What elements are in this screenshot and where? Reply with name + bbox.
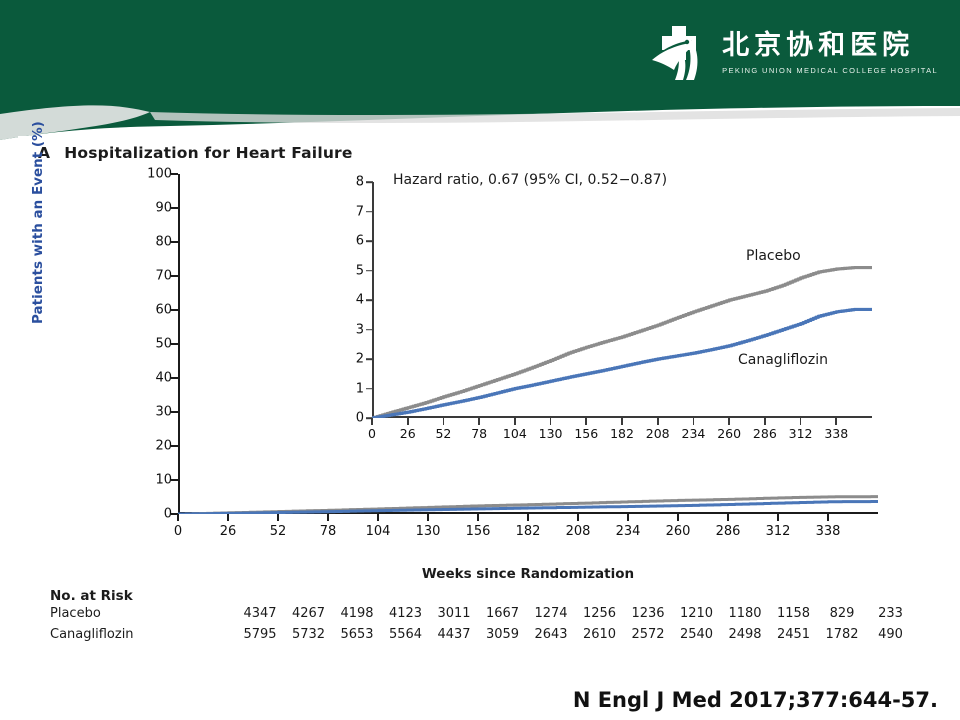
risk-table-cell: 5653 — [340, 627, 373, 642]
main-chart-xlabel: Weeks since Randomization — [178, 566, 878, 582]
risk-table-cell: 4267 — [292, 606, 325, 621]
inset-x-tickmark — [835, 418, 837, 425]
main-y-tickmark — [171, 479, 178, 481]
main-x-tick-label: 208 — [566, 524, 591, 539]
main-x-tickmark — [227, 514, 229, 521]
main-y-tickmark — [171, 207, 178, 209]
inset-x-tick-label: 104 — [503, 426, 527, 441]
risk-table-cell: 4437 — [437, 627, 470, 642]
main-y-tickmark — [171, 445, 178, 447]
inset-x-tickmark — [621, 418, 623, 425]
risk-table-cell: 5564 — [389, 627, 422, 642]
main-x-tick-label: 104 — [366, 524, 391, 539]
inset-x-tick-label: 312 — [789, 426, 813, 441]
risk-table-cell: 1274 — [534, 606, 567, 621]
main-y-tickmark — [171, 411, 178, 413]
inset-x-tick-label: 234 — [681, 426, 705, 441]
risk-table-cell: 5732 — [292, 627, 325, 642]
main-x-tickmark — [177, 514, 179, 521]
inset-y-tick-label: 0 — [346, 411, 364, 426]
inset-x-tick-label: 208 — [646, 426, 670, 441]
inset-x-tick-label: 0 — [368, 426, 376, 441]
main-x-tickmark — [477, 514, 479, 521]
main-y-tick-label: 40 — [112, 371, 172, 386]
main-x-tickmark — [377, 514, 379, 521]
risk-table-cell: 2540 — [680, 627, 713, 642]
no-at-risk-rows: Placebo434742674198412330111667127412561… — [50, 606, 910, 648]
hospital-cross-dove-logo-icon — [646, 24, 712, 82]
inset-x-tick-label: 130 — [539, 426, 563, 441]
risk-table-cell: 4347 — [243, 606, 276, 621]
figure-title-text: Hospitalization for Heart Failure — [64, 144, 352, 162]
main-y-tick-label: 90 — [112, 201, 172, 216]
risk-table-cell: 2498 — [728, 627, 761, 642]
inset-series-placebo — [372, 268, 872, 418]
inset-chart-curves — [372, 182, 874, 418]
risk-table-row: Placebo434742674198412330111667127412561… — [50, 606, 910, 627]
risk-table-cell: 1236 — [631, 606, 664, 621]
hospital-name-cn: 北京协和医院 — [722, 32, 938, 59]
inset-x-tickmark — [443, 418, 445, 425]
main-chart-ylabel: Patients with an Event (%) — [30, 121, 46, 324]
inset-y-tick-label: 8 — [346, 175, 364, 190]
inset-y-tick-label: 6 — [346, 234, 364, 249]
main-y-tick-label: 50 — [112, 337, 172, 352]
risk-table-cell: 3059 — [486, 627, 519, 642]
inset-x-tick-label: 182 — [610, 426, 634, 441]
main-y-tickmark — [171, 275, 178, 277]
risk-table-cell: 1256 — [583, 606, 616, 621]
inset-x-tickmark — [478, 418, 480, 425]
risk-table-cell: 829 — [830, 606, 855, 621]
main-y-tickmark — [171, 343, 178, 345]
risk-table-cell: 5795 — [243, 627, 276, 642]
risk-table-row: Canagliflozin579557325653556444373059264… — [50, 627, 910, 648]
main-x-tick-label: 52 — [270, 524, 287, 539]
main-y-tick-label: 80 — [112, 235, 172, 250]
main-x-tickmark — [727, 514, 729, 521]
inset-y-tick-label: 5 — [346, 263, 364, 278]
main-x-tickmark — [577, 514, 579, 521]
main-x-tickmark — [277, 514, 279, 521]
inset-series-label-placebo: Placebo — [746, 248, 801, 264]
main-y-tick-label: 60 — [112, 303, 172, 318]
risk-table-cell: 490 — [878, 627, 903, 642]
inset-series-label-canagliflozin: Canagliflozin — [738, 352, 828, 368]
main-x-tick-label: 0 — [174, 524, 182, 539]
risk-table-cell: 233 — [878, 606, 903, 621]
main-x-tick-label: 156 — [466, 524, 491, 539]
risk-table-cell: 2610 — [583, 627, 616, 642]
inset-x-tickmark — [657, 418, 659, 425]
main-y-tickmark — [171, 241, 178, 243]
main-x-tick-label: 26 — [220, 524, 237, 539]
no-at-risk-title: No. at Risk — [50, 588, 910, 604]
figure-panel: AHospitalization for Heart Failure Patie… — [18, 136, 930, 676]
risk-table-cell: 2643 — [534, 627, 567, 642]
inset-x-tick-label: 286 — [753, 426, 777, 441]
main-y-tick-label: 30 — [112, 405, 172, 420]
main-y-tickmark — [171, 173, 178, 175]
inset-x-tick-label: 338 — [824, 426, 848, 441]
inset-y-tick-label: 1 — [346, 381, 364, 396]
main-x-tickmark — [427, 514, 429, 521]
risk-table-cell: 1210 — [680, 606, 713, 621]
main-y-tick-label: 100 — [112, 167, 172, 182]
inset-x-tickmark — [407, 418, 409, 425]
inset-y-tick-label: 4 — [346, 293, 364, 308]
main-y-tick-label: 70 — [112, 269, 172, 284]
main-x-tick-label: 182 — [516, 524, 541, 539]
risk-table-cell: 3011 — [437, 606, 470, 621]
inset-y-tick-label: 3 — [346, 322, 364, 337]
main-y-tick-label: 10 — [112, 473, 172, 488]
risk-table-cell: 1782 — [825, 627, 858, 642]
risk-table-cell: 1180 — [728, 606, 761, 621]
inset-x-tick-label: 26 — [400, 426, 416, 441]
main-y-tick-label: 20 — [112, 439, 172, 454]
main-x-tick-label: 338 — [816, 524, 841, 539]
inset-x-tickmark — [550, 418, 552, 425]
main-x-tickmark — [627, 514, 629, 521]
main-x-tickmark — [777, 514, 779, 521]
main-x-tickmark — [527, 514, 529, 521]
main-x-tick-label: 286 — [716, 524, 741, 539]
main-y-tickmark — [171, 377, 178, 379]
inset-x-tick-label: 156 — [574, 426, 598, 441]
hospital-name-en: PEKING UNION MEDICAL COLLEGE HOSPITAL — [722, 66, 938, 75]
inset-x-tickmark — [728, 418, 730, 425]
no-at-risk-table: No. at Risk Placebo434742674198412330111… — [50, 588, 910, 648]
inset-x-tick-label: 78 — [471, 426, 487, 441]
main-x-tick-label: 312 — [766, 524, 791, 539]
main-x-tickmark — [677, 514, 679, 521]
main-x-tickmark — [327, 514, 329, 521]
risk-table-cell: 2451 — [777, 627, 810, 642]
hospital-logo: 北京协和医院 PEKING UNION MEDICAL COLLEGE HOSP… — [646, 24, 938, 82]
main-x-tick-label: 260 — [666, 524, 691, 539]
figure-title: AHospitalization for Heart Failure — [38, 144, 353, 162]
risk-table-cell: 4123 — [389, 606, 422, 621]
risk-table-cell: 2572 — [631, 627, 664, 642]
inset-x-tick-label: 260 — [717, 426, 741, 441]
main-y-tick-label: 0 — [112, 507, 172, 522]
main-x-tick-label: 234 — [616, 524, 641, 539]
risk-table-row-name: Placebo — [50, 606, 101, 621]
inset-x-tickmark — [585, 418, 587, 425]
inset-x-tickmark — [800, 418, 802, 425]
main-x-tick-label: 130 — [416, 524, 441, 539]
risk-table-row-name: Canagliflozin — [50, 627, 134, 642]
citation-text: N Engl J Med 2017;377:644-57. — [573, 688, 938, 712]
main-x-tick-label: 78 — [320, 524, 337, 539]
inset-y-tick-label: 7 — [346, 204, 364, 219]
inset-x-tickmark — [514, 418, 516, 425]
main-y-tickmark — [171, 309, 178, 311]
inset-x-tickmark — [371, 418, 373, 425]
risk-table-cell: 4198 — [340, 606, 373, 621]
inset-x-tick-label: 52 — [435, 426, 451, 441]
inset-x-tickmark — [693, 418, 695, 425]
risk-table-cell: 1158 — [777, 606, 810, 621]
risk-table-cell: 1667 — [486, 606, 519, 621]
inset-x-tickmark — [764, 418, 766, 425]
inset-y-tick-label: 2 — [346, 352, 364, 367]
main-x-tickmark — [827, 514, 829, 521]
inset-chart: Hazard ratio, 0.67 (95% CI, 0.52−0.87) 0… — [338, 176, 878, 446]
